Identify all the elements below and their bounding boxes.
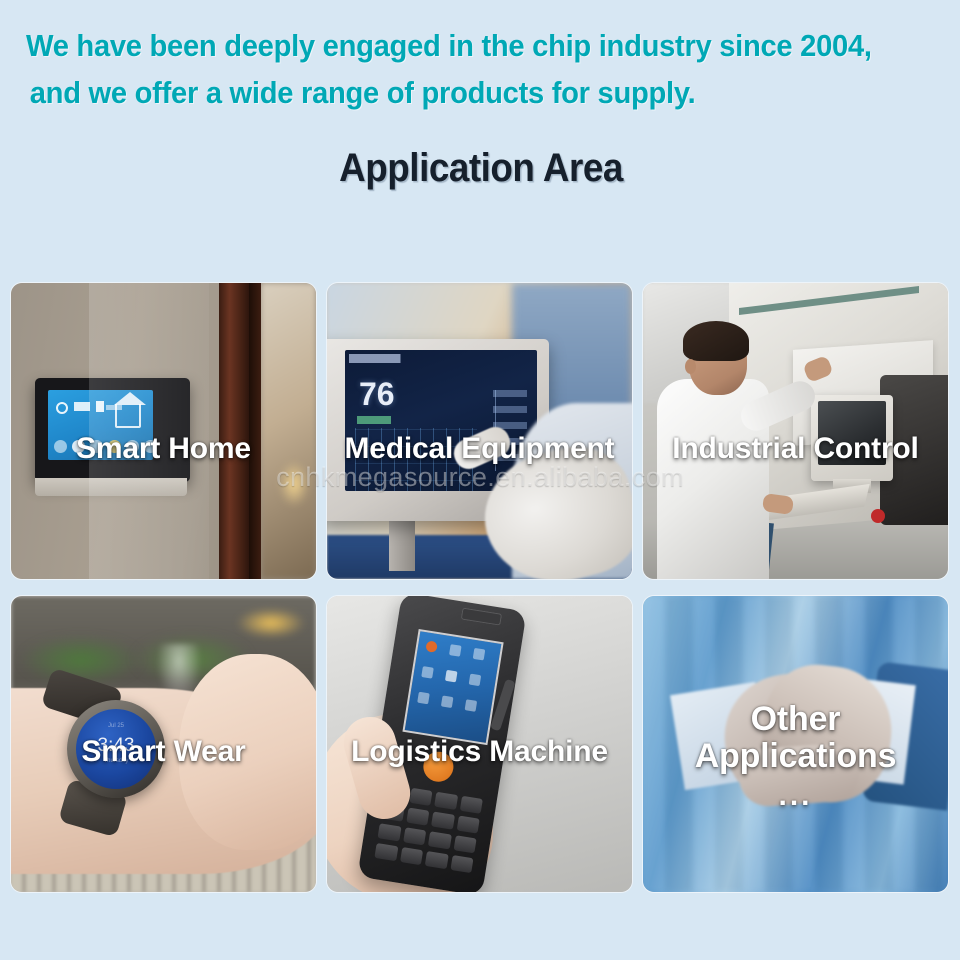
application-area-grid: Smart Home 76 xyxy=(11,283,949,892)
smart-home-scene xyxy=(11,283,316,579)
keypad-key xyxy=(400,847,424,865)
vital-sign-value: 76 xyxy=(359,376,395,413)
desktop-icon-7 xyxy=(417,692,430,705)
keypad-key xyxy=(459,796,483,814)
door-trim-edge xyxy=(249,283,261,579)
desktop-icon-3 xyxy=(473,648,486,661)
sun-icon xyxy=(56,402,68,414)
technician-ear xyxy=(685,359,696,374)
card-label-other-line-1: Other xyxy=(751,700,841,738)
keypad-key xyxy=(425,851,449,869)
technician-hair xyxy=(683,321,749,361)
keypad-key xyxy=(453,835,477,853)
keypad-key xyxy=(456,815,480,833)
keypad-key xyxy=(434,792,458,810)
door-trim xyxy=(219,283,249,579)
desktop-icon-1 xyxy=(425,640,438,653)
scanner-speaker-grille xyxy=(461,608,502,626)
desktop-icon-2 xyxy=(449,644,462,657)
card-label-medical-equipment: Medical Equipment xyxy=(327,433,632,465)
keypad-key xyxy=(403,827,427,845)
scanner-desktop-icons xyxy=(414,640,492,733)
card-smart-home[interactable]: Smart Home xyxy=(11,283,316,579)
desktop-icon-5 xyxy=(445,670,458,683)
page-title: Application Area xyxy=(62,146,899,191)
keypad-key xyxy=(409,788,433,806)
card-label-other-line-2: Applications xyxy=(643,738,948,775)
monitor-stand xyxy=(389,521,415,571)
readout-row-2 xyxy=(493,406,527,413)
card-label-industrial-control: Industrial Control xyxy=(643,433,948,465)
glass-reflection xyxy=(89,283,209,579)
card-smart-wear[interactable]: Jul 25 3:43 Thursday Smart Wear xyxy=(11,596,316,892)
card-label-logistics-machine: Logistics Machine xyxy=(327,736,632,768)
weather-readout xyxy=(74,402,90,411)
keypad-key xyxy=(406,807,430,825)
watch-status-text: Jul 25 xyxy=(76,723,156,729)
monitor-status-bar xyxy=(349,354,533,363)
page-header: We have been deeply engaged in the chip … xyxy=(0,0,960,191)
vital-label-green xyxy=(357,416,391,424)
headline-line-1: We have been deeply engaged in the chip … xyxy=(26,22,881,69)
desktop-icon-9 xyxy=(465,699,478,712)
emergency-stop-button xyxy=(871,509,885,523)
card-other-applications[interactable]: Other Applications ... xyxy=(643,596,948,892)
scanner-screen xyxy=(402,629,503,745)
card-industrial-control[interactable]: Industrial Control xyxy=(643,283,948,579)
background-room xyxy=(261,283,316,579)
medical-equipment-scene: 76 xyxy=(327,283,632,579)
desktop-icon-6 xyxy=(469,674,482,687)
keypad-key xyxy=(374,843,398,861)
desktop-icon-4 xyxy=(421,666,434,679)
keypad-key xyxy=(431,811,455,829)
card-label-other-ellipsis: ... xyxy=(643,780,948,812)
industrial-control-scene xyxy=(643,283,948,579)
card-label-smart-home: Smart Home xyxy=(11,433,316,465)
desktop-icon-8 xyxy=(441,695,454,708)
room-lamp-glow xyxy=(279,461,309,507)
keypad-key xyxy=(377,823,401,841)
readout-row-1 xyxy=(493,390,527,397)
card-label-other-applications: Other Applications ... xyxy=(643,701,948,813)
card-medical-equipment[interactable]: 76 Medical Equipment xyxy=(327,283,632,579)
card-logistics-machine[interactable]: Logistics Machine xyxy=(327,596,632,892)
keypad-key xyxy=(450,855,474,873)
background-lights xyxy=(236,608,306,638)
card-label-smart-wear: Smart Wear xyxy=(11,736,316,768)
keypad-key xyxy=(428,831,452,849)
headline-line-2: and we offer a wide range of products fo… xyxy=(26,69,881,116)
